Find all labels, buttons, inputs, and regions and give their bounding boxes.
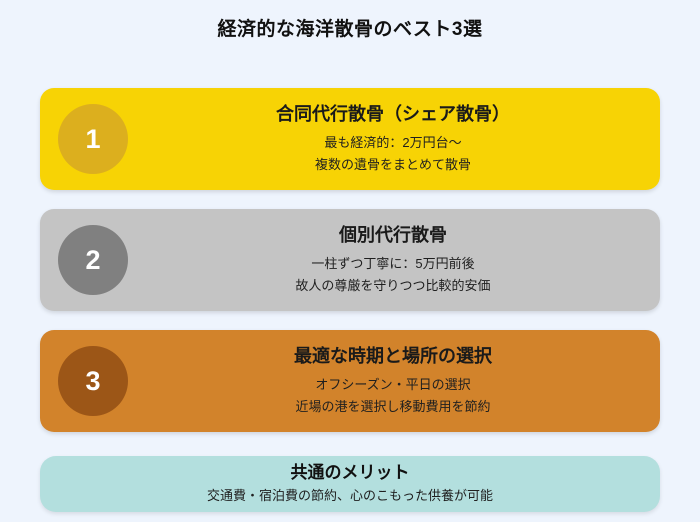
ranking-card-3-line2: 近場の港を選択し移動費用を節約 xyxy=(295,396,490,417)
summary-bar: 共通のメリット 交通費・宿泊費の節約、心のこもった供養が可能 xyxy=(40,456,660,512)
rank-badge-number: 2 xyxy=(85,245,100,276)
rank-badge-1: 1 xyxy=(58,104,128,174)
ranking-card-3-line1: オフシーズン・平日の選択 xyxy=(315,374,470,395)
ranking-card-1-body: 合同代行散骨（シェア散骨） 最も経済的：2万円台〜 複数の遺骨をまとめて散骨 xyxy=(140,88,660,190)
rank-badge-3: 3 xyxy=(58,346,128,416)
ranking-card-2-line1: 一柱ずつ丁寧に：5万円前後 xyxy=(311,253,474,274)
ranking-card-1-title: 合同代行散骨（シェア散骨） xyxy=(276,103,510,126)
ranking-card-2-line2: 故人の尊厳を守りつつ比較的安価 xyxy=(295,275,490,296)
page-title: 経済的な海洋散骨のベスト3選 xyxy=(0,14,700,41)
ranking-card-1-line2: 複数の遺骨をまとめて散骨 xyxy=(315,154,471,175)
rank-badge-number: 1 xyxy=(85,124,100,155)
ranking-card-3: 3 最適な時期と場所の選択 オフシーズン・平日の選択 近場の港を選択し移動費用を… xyxy=(40,330,660,432)
ranking-card-3-body: 最適な時期と場所の選択 オフシーズン・平日の選択 近場の港を選択し移動費用を節約 xyxy=(140,330,660,432)
ranking-card-3-title: 最適な時期と場所の選択 xyxy=(294,345,492,368)
ranking-card-1: 1 合同代行散骨（シェア散骨） 最も経済的：2万円台〜 複数の遺骨をまとめて散骨 xyxy=(40,88,660,190)
ranking-card-1-line1: 最も経済的：2万円台〜 xyxy=(324,132,461,153)
rank-badge-number: 3 xyxy=(85,366,100,397)
ranking-card-2-body: 個別代行散骨 一柱ずつ丁寧に：5万円前後 故人の尊厳を守りつつ比較的安価 xyxy=(140,209,660,311)
ranking-card-2: 2 個別代行散骨 一柱ずつ丁寧に：5万円前後 故人の尊厳を守りつつ比較的安価 xyxy=(40,209,660,311)
summary-text: 交通費・宿泊費の節約、心のこもった供養が可能 xyxy=(207,487,493,505)
ranking-card-2-title: 個別代行散骨 xyxy=(339,224,447,247)
rank-badge-2: 2 xyxy=(58,225,128,295)
ranking-card-list: 1 合同代行散骨（シェア散骨） 最も経済的：2万円台〜 複数の遺骨をまとめて散骨… xyxy=(40,88,660,451)
summary-title: 共通のメリット xyxy=(291,463,410,483)
